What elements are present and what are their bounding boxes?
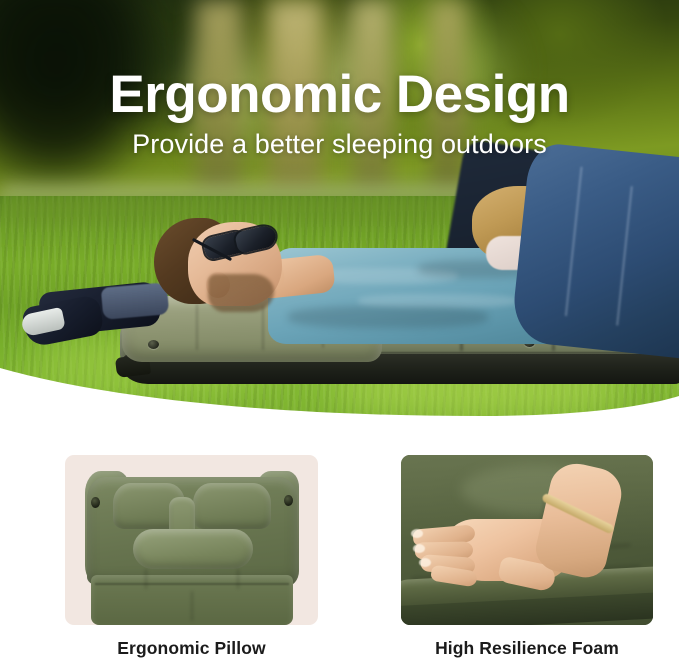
pillow-lobe [193, 483, 271, 529]
hero-photo [0, 0, 679, 426]
feature-caption-ergonomic-pillow: Ergonomic Pillow [65, 638, 318, 659]
pillow-crease [237, 569, 239, 589]
fingernail [413, 544, 425, 553]
pillow-grommet [91, 497, 100, 508]
feature-card-ergonomic-pillow[interactable] [65, 455, 318, 625]
white-curve-divider [0, 356, 679, 426]
page-title: Ergonomic Design [0, 67, 679, 123]
pressing-hand [413, 513, 585, 589]
page-subtitle: Provide a better sleeping outdoors [0, 128, 679, 160]
pillow-crease [145, 569, 147, 589]
feature-caption-high-resilience-foam: High Resilience Foam [401, 638, 653, 659]
jeans-seam [616, 186, 633, 325]
man-jeans [510, 141, 679, 358]
beard [208, 274, 274, 312]
hero-banner: Ergonomic Design Provide a better sleepi… [0, 0, 679, 426]
fingernail [411, 529, 423, 538]
sunglasses-icon [202, 228, 286, 262]
product-feature-page: Ergonomic Design Provide a better sleepi… [0, 0, 679, 662]
shirt-shadow [288, 306, 488, 328]
pillow-neck-roll [133, 529, 253, 569]
fingernail [419, 558, 431, 567]
feature-card-high-resilience-foam[interactable] [401, 455, 653, 625]
feature-cards-section: Ergonomic Pillow [0, 430, 679, 662]
jeans-seam [565, 167, 583, 316]
man-head [154, 214, 286, 318]
pillow-base-seam [95, 583, 289, 585]
ergonomic-pillow-image [87, 471, 297, 625]
foam-surface [401, 455, 653, 625]
sunglass-lens [234, 224, 278, 254]
pillow-grommet [284, 495, 293, 506]
shoes [18, 283, 168, 345]
pillow-crease [191, 591, 193, 621]
